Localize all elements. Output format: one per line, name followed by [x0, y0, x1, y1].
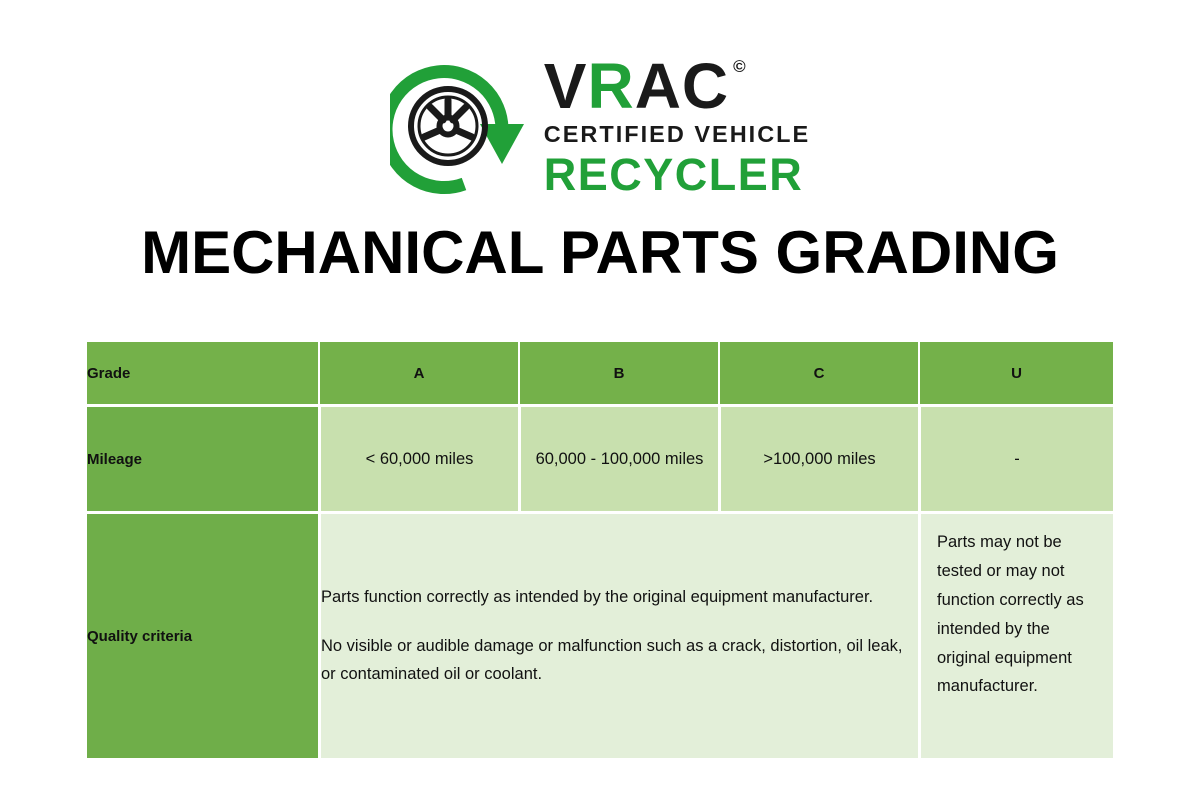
row-label-mileage: Mileage	[87, 404, 318, 511]
table-header-row: Grade A B C U	[87, 342, 1113, 404]
recycle-arrow-wheel-icon	[390, 56, 530, 196]
logo-word-recycler: RECYCLER	[544, 152, 804, 197]
mechanical-parts-grading-table: Grade A B C U Mileage < 60,000 miles 60,…	[87, 342, 1113, 758]
row-label-quality-criteria: Quality criteria	[87, 511, 318, 758]
logo-brand-letters-ac: AC	[635, 54, 729, 118]
header-cell-grade-u: U	[918, 342, 1113, 404]
mileage-cell-c: >100,000 miles	[718, 404, 918, 511]
mileage-cell-a: < 60,000 miles	[318, 404, 518, 511]
quality-criteria-paragraph-1: Parts function correctly as intended by …	[321, 583, 918, 612]
brand-logo: VRAC © CERTIFIED VEHICLE RECYCLER	[0, 48, 1200, 203]
mileage-cell-b: 60,000 - 100,000 miles	[518, 404, 718, 511]
logo-wordmark: VRAC © CERTIFIED VEHICLE RECYCLER	[544, 54, 810, 198]
quality-criteria-paragraph-2: No visible or audible damage or malfunct…	[321, 632, 918, 690]
table-row-mileage: Mileage < 60,000 miles 60,000 - 100,000 …	[87, 404, 1113, 511]
header-cell-grade-a: A	[318, 342, 518, 404]
logo-inner: VRAC © CERTIFIED VEHICLE RECYCLER	[390, 54, 810, 198]
quality-criteria-cell-abc: Parts function correctly as intended by …	[318, 511, 918, 758]
mileage-cell-u: -	[918, 404, 1113, 511]
copyright-icon: ©	[733, 58, 747, 75]
logo-brand-letter-r: R	[587, 54, 634, 118]
header-cell-grade: Grade	[87, 342, 318, 404]
quality-criteria-cell-u: Parts may not be tested or may not funct…	[918, 511, 1113, 758]
logo-tagline: CERTIFIED VEHICLE	[544, 123, 810, 147]
page-title: MECHANICAL PARTS GRADING	[0, 218, 1200, 287]
logo-brand-letter-v: V	[544, 54, 588, 118]
header-cell-grade-b: B	[518, 342, 718, 404]
header-cell-grade-c: C	[718, 342, 918, 404]
logo-brand-vrac: VRAC ©	[544, 54, 747, 118]
table-row-quality-criteria: Quality criteria Parts function correctl…	[87, 511, 1113, 758]
